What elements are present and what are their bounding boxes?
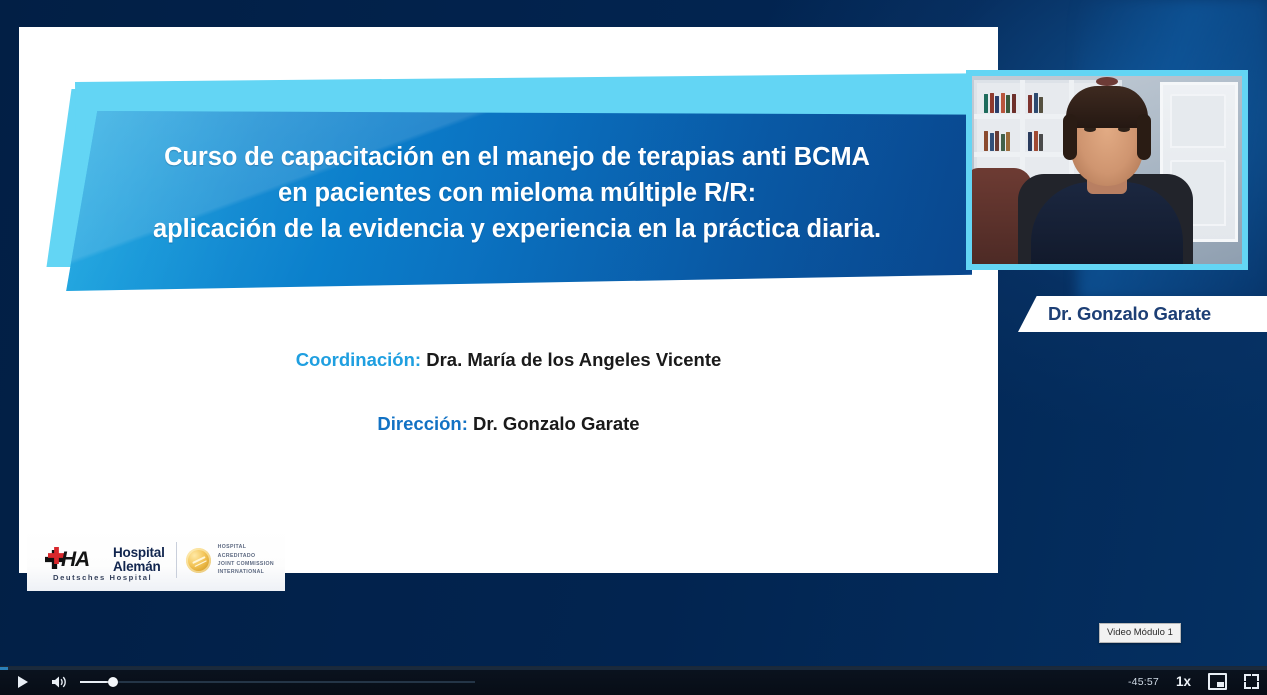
webcam-frame [966,70,1248,270]
accreditation-seal-icon [186,548,211,573]
volume-slider[interactable] [80,675,475,689]
slide-title-line-1: Curso de capacitación en el manejo de te… [77,139,957,175]
fullscreen-icon[interactable] [1244,674,1259,689]
credit-direction-label: Dirección: [377,413,467,434]
presentation-slide: Curso de capacitación en el manejo de te… [19,27,998,573]
hospital-logo-letters: HA [61,548,89,572]
hospital-logo-strip: HA Hospital Alemán Deutsches Hospital HO… [27,529,285,591]
speaker-hair [1066,86,1148,128]
seek-progress [0,667,8,670]
speaker-hair-left [1063,114,1077,160]
credit-coordination-value: Dra. María de los Angeles Vicente [421,349,721,370]
slide-title-line-3: aplicación de la evidencia y experiencia… [77,211,957,247]
playback-speed-button[interactable]: 1x [1176,674,1191,689]
volume-icon [51,675,67,689]
credit-coordination: Coordinación: Dra. María de los Angeles … [19,349,998,371]
credit-direction: Dirección: Dr. Gonzalo Garate [19,413,998,435]
accreditation-line-1: HOSPITAL ACREDITADO [218,543,285,560]
logo-divider [176,542,177,578]
player-left-controls [0,671,475,693]
hospital-name-line-1: Hospital [113,546,165,560]
play-icon [18,676,28,688]
accreditation-line-2: JOINT COMMISSION [218,560,285,568]
hospital-aleman-logo-icon: HA [45,547,107,573]
slide-credits: Coordinación: Dra. María de los Angeles … [19,349,998,435]
accreditation-line-3: INTERNATIONAL [218,568,285,576]
video-player-controls: -45:57 1x [0,666,1267,695]
hospital-subtitle: Deutsches Hospital [53,573,152,582]
slide-title-line-2: en pacientes con mieloma múltiple R/R: [77,175,957,211]
credit-coordination-label: Coordinación: [296,349,421,370]
mute-button[interactable] [46,671,72,693]
play-button[interactable] [10,671,36,693]
seek-bar[interactable] [0,667,1267,670]
video-title-tooltip: Video Módulo 1 [1099,623,1181,643]
picture-in-picture-icon[interactable] [1208,673,1227,690]
player-right-controls: -45:57 1x [1128,667,1259,695]
volume-track [80,681,475,683]
video-player-stage: Curso de capacitación en el manejo de te… [0,0,1267,695]
speaker-hair-right [1137,114,1151,160]
time-remaining: -45:57 [1128,676,1159,688]
credit-direction-value: Dr. Gonzalo Garate [468,413,640,434]
slide-title: Curso de capacitación en el manejo de te… [77,139,957,248]
hospital-name: Hospital Alemán [113,546,165,574]
accreditation-text: HOSPITAL ACREDITADO JOINT COMMISSION INT… [218,543,285,577]
speaker-name-banner: Dr. Gonzalo Garate [1018,296,1267,332]
webcam-video [972,76,1242,264]
speaker-torso [1031,182,1183,264]
volume-control [46,671,475,693]
volume-knob[interactable] [108,677,118,687]
speaker-name: Dr. Gonzalo Garate [1048,303,1211,325]
